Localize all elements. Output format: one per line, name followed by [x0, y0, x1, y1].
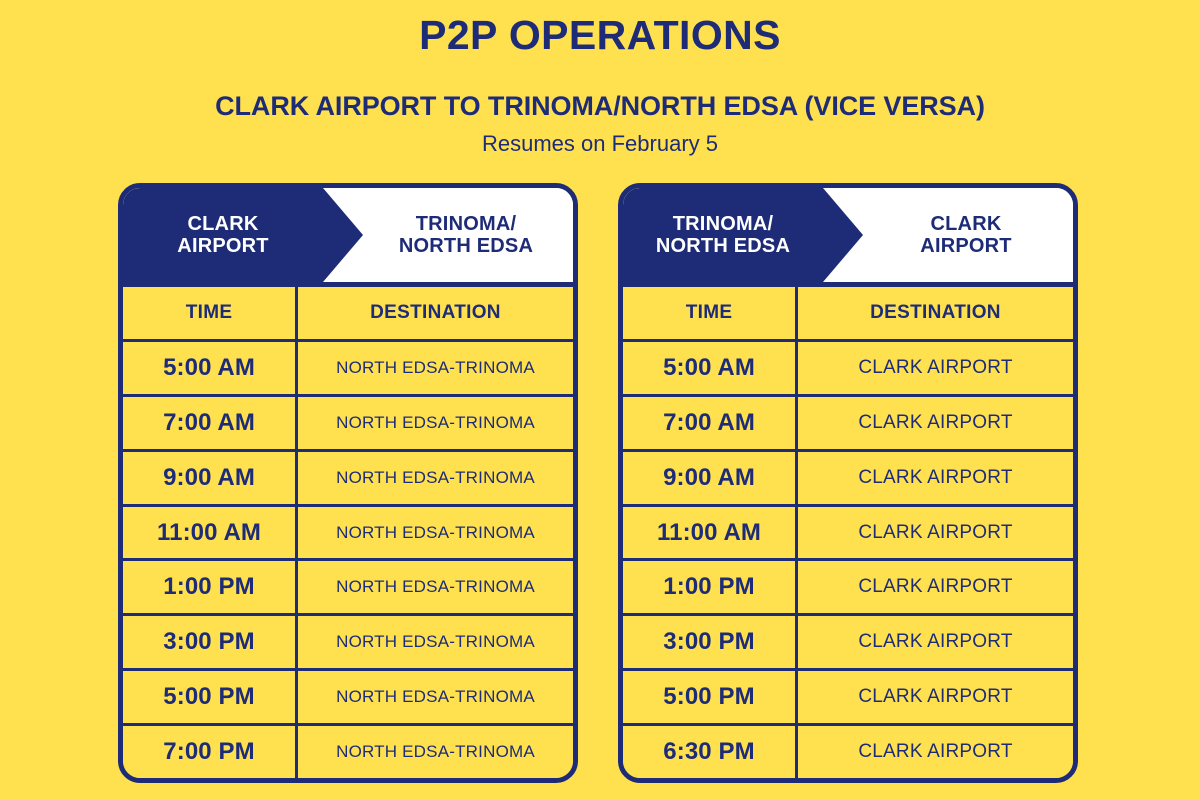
table-row: 11:00 AM NORTH EDSA-TRINOMA: [123, 507, 573, 562]
table-row: 5:00 PM NORTH EDSA-TRINOMA: [123, 671, 573, 726]
cell-time: 11:00 AM: [623, 507, 798, 559]
route-subtitle: CLARK AIRPORT TO TRINOMA/NORTH EDSA (VIC…: [0, 91, 1200, 122]
origin-label: CLARK AIRPORT: [177, 213, 268, 258]
schedule-card-clark-to-trinoma: CLARK AIRPORT TRINOMA/ NORTH EDSA TIME D…: [118, 183, 578, 783]
poster-header: P2P OPERATIONS CLARK AIRPORT TO TRINOMA/…: [0, 0, 1200, 156]
destination-label-line2: AIRPORT: [920, 235, 1011, 257]
cell-destination: NORTH EDSA-TRINOMA: [298, 671, 573, 723]
origin-label: TRINOMA/ NORTH EDSA: [656, 213, 790, 258]
cell-time: 5:00 AM: [623, 342, 798, 394]
origin-label-line1: CLARK: [188, 213, 259, 235]
resume-date-note: Resumes on February 5: [0, 131, 1200, 156]
origin-label-line2: AIRPORT: [177, 235, 268, 257]
cell-destination: CLARK AIRPORT: [798, 397, 1073, 449]
destination-label-line1: TRINOMA/: [416, 213, 516, 235]
cell-time: 5:00 AM: [123, 342, 298, 394]
cell-destination: CLARK AIRPORT: [798, 507, 1073, 559]
cell-time: 7:00 AM: [623, 397, 798, 449]
cell-time: 6:30 PM: [623, 726, 798, 778]
cell-time: 7:00 AM: [123, 397, 298, 449]
table-header-row: TIME DESTINATION: [123, 287, 573, 342]
table-row: 7:00 PM NORTH EDSA-TRINOMA: [123, 726, 573, 778]
destination-label-line1: CLARK: [931, 213, 1002, 235]
table-row: 5:00 AM NORTH EDSA-TRINOMA: [123, 342, 573, 397]
table-row: 11:00 AM CLARK AIRPORT: [623, 507, 1073, 562]
destination-label-line2: NORTH EDSA: [399, 235, 533, 257]
cell-time: 5:00 PM: [123, 671, 298, 723]
cell-destination: CLARK AIRPORT: [798, 671, 1073, 723]
cell-destination: NORTH EDSA-TRINOMA: [298, 397, 573, 449]
table-row: 9:00 AM NORTH EDSA-TRINOMA: [123, 452, 573, 507]
schedule-card-trinoma-to-clark: TRINOMA/ NORTH EDSA CLARK AIRPORT TIME D…: [618, 183, 1078, 783]
cell-time: 11:00 AM: [123, 507, 298, 559]
cell-destination: CLARK AIRPORT: [798, 561, 1073, 613]
table-row: 1:00 PM NORTH EDSA-TRINOMA: [123, 561, 573, 616]
cell-destination: CLARK AIRPORT: [798, 616, 1073, 668]
cell-time: 1:00 PM: [623, 561, 798, 613]
cell-time: 3:00 PM: [123, 616, 298, 668]
destination-label: CLARK AIRPORT: [920, 213, 1011, 258]
table-row: 6:30 PM CLARK AIRPORT: [623, 726, 1073, 778]
page-title: P2P OPERATIONS: [0, 12, 1200, 59]
cell-time: 1:00 PM: [123, 561, 298, 613]
table-row: 3:00 PM NORTH EDSA-TRINOMA: [123, 616, 573, 671]
cell-destination: NORTH EDSA-TRINOMA: [298, 561, 573, 613]
table-row: 7:00 AM CLARK AIRPORT: [623, 397, 1073, 452]
schedule-table: TIME DESTINATION 5:00 AM NORTH EDSA-TRIN…: [123, 282, 573, 778]
cell-destination: NORTH EDSA-TRINOMA: [298, 452, 573, 504]
table-row: 5:00 AM CLARK AIRPORT: [623, 342, 1073, 397]
cell-destination: NORTH EDSA-TRINOMA: [298, 726, 573, 778]
table-row: 3:00 PM CLARK AIRPORT: [623, 616, 1073, 671]
cell-time: 9:00 AM: [123, 452, 298, 504]
card-header-route-band: CLARK AIRPORT TRINOMA/ NORTH EDSA: [123, 188, 573, 282]
schedule-cards: CLARK AIRPORT TRINOMA/ NORTH EDSA TIME D…: [118, 183, 1078, 783]
table-row: 7:00 AM NORTH EDSA-TRINOMA: [123, 397, 573, 452]
column-header-time: TIME: [123, 287, 298, 339]
cell-time: 5:00 PM: [623, 671, 798, 723]
table-row: 1:00 PM CLARK AIRPORT: [623, 561, 1073, 616]
cell-time: 3:00 PM: [623, 616, 798, 668]
column-header-destination: DESTINATION: [298, 287, 573, 339]
column-header-time: TIME: [623, 287, 798, 339]
destination-label: TRINOMA/ NORTH EDSA: [399, 213, 533, 258]
table-row: 9:00 AM CLARK AIRPORT: [623, 452, 1073, 507]
origin-label-line1: TRINOMA/: [673, 213, 773, 235]
cell-destination: CLARK AIRPORT: [798, 342, 1073, 394]
cell-time: 7:00 PM: [123, 726, 298, 778]
table-row: 5:00 PM CLARK AIRPORT: [623, 671, 1073, 726]
cell-time: 9:00 AM: [623, 452, 798, 504]
table-header-row: TIME DESTINATION: [623, 287, 1073, 342]
column-header-destination: DESTINATION: [798, 287, 1073, 339]
origin-label-line2: NORTH EDSA: [656, 235, 790, 257]
card-header-route-band: TRINOMA/ NORTH EDSA CLARK AIRPORT: [623, 188, 1073, 282]
origin-block: TRINOMA/ NORTH EDSA: [623, 188, 823, 282]
cell-destination: CLARK AIRPORT: [798, 452, 1073, 504]
cell-destination: NORTH EDSA-TRINOMA: [298, 342, 573, 394]
cell-destination: NORTH EDSA-TRINOMA: [298, 616, 573, 668]
cell-destination: NORTH EDSA-TRINOMA: [298, 507, 573, 559]
schedule-table: TIME DESTINATION 5:00 AM CLARK AIRPORT 7…: [623, 282, 1073, 778]
cell-destination: CLARK AIRPORT: [798, 726, 1073, 778]
origin-block: CLARK AIRPORT: [123, 188, 323, 282]
